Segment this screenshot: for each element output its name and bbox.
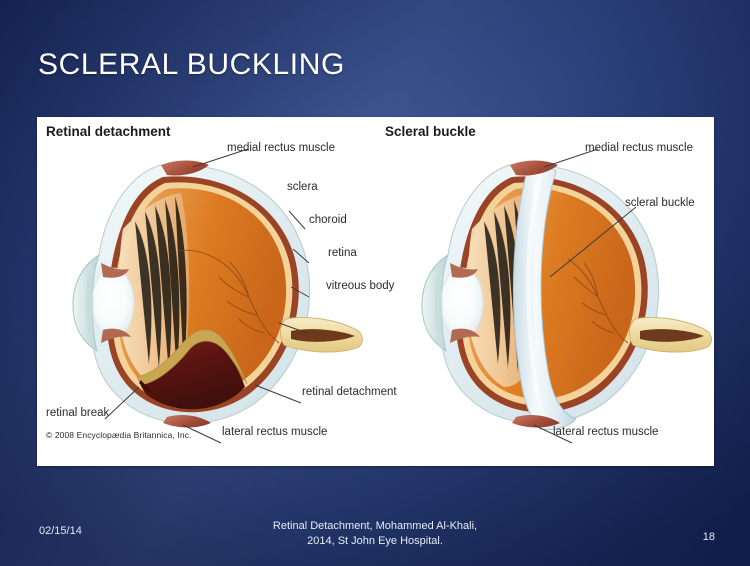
- footer-citation: Retinal Detachment, Mohammed Al-Khali, 2…: [0, 519, 750, 549]
- footer-page-number: 18: [703, 531, 715, 543]
- lens-right: [441, 268, 483, 338]
- label-lateral-rectus-muscle-right: lateral rectus muscle: [553, 426, 658, 438]
- label-choroid-left: choroid: [309, 214, 347, 226]
- copyright-notice: © 2008 Encyclopædia Britannica, Inc.: [46, 430, 191, 440]
- slide-canvas: SCLERAL BUCKLING Retinal detachment Scle…: [0, 0, 750, 566]
- label-lateral-rectus-muscle-left: lateral rectus muscle: [222, 426, 327, 438]
- eye-diagram-scleral-buckle: [392, 137, 722, 437]
- label-medial-rectus-muscle-left: medial rectus muscle: [227, 142, 335, 154]
- lens-left: [92, 268, 134, 338]
- label-sclera-left: sclera: [287, 181, 318, 193]
- label-medial-rectus-muscle-right: medial rectus muscle: [585, 142, 693, 154]
- page-title: SCLERAL BUCKLING: [38, 48, 345, 82]
- label-vitreous-body-left: vitreous body: [326, 280, 394, 292]
- footer-citation-line-1: Retinal Detachment, Mohammed Al-Khali,: [0, 519, 750, 534]
- footer-citation-line-2: 2014, St John Eye Hospital.: [0, 534, 750, 549]
- figure-panel: Retinal detachment Scleral buckle: [37, 117, 714, 466]
- label-retina-left: retina: [328, 247, 357, 259]
- label-retinal-break-left: retinal break: [46, 407, 109, 419]
- label-retinal-detachment-left: retinal detachment: [302, 386, 397, 398]
- label-scleral-buckle: scleral buckle: [625, 197, 695, 209]
